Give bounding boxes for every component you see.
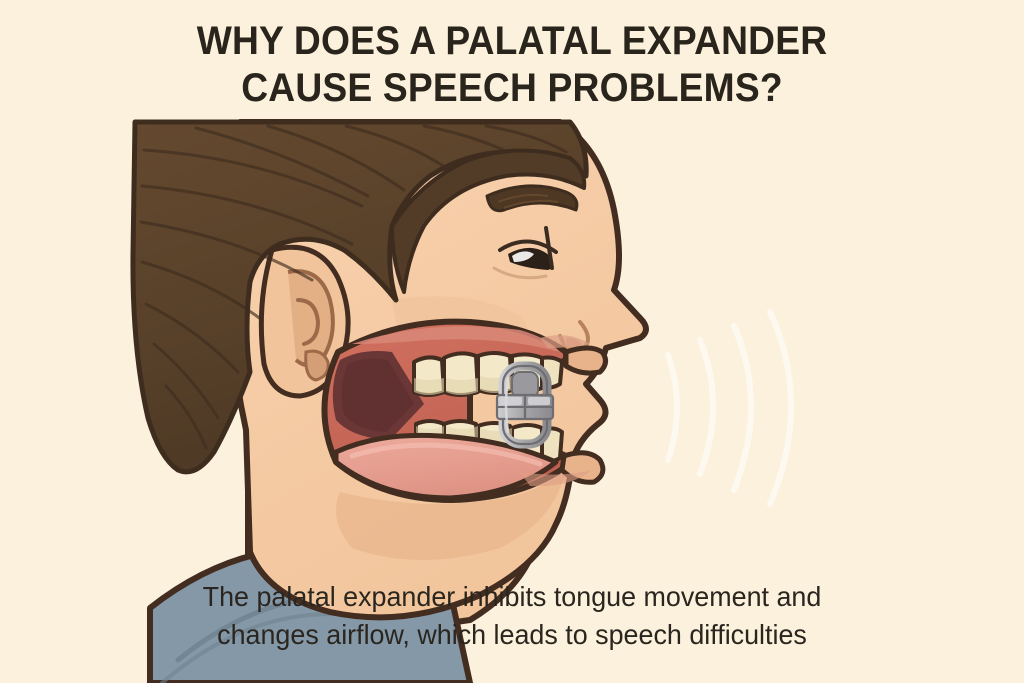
sound-waves xyxy=(668,312,791,504)
page-title: WHY DOES A PALATAL EXPANDER CAUSE SPEECH… xyxy=(0,18,1024,112)
infographic-page: WHY DOES A PALATAL EXPANDER CAUSE SPEECH… xyxy=(0,0,1024,683)
caption: The palatal expander inhibits tongue mov… xyxy=(0,578,1024,654)
title-line-2: CAUSE SPEECH PROBLEMS? xyxy=(36,65,988,112)
title-line-1: WHY DOES A PALATAL EXPANDER xyxy=(36,18,988,65)
upper-lip xyxy=(566,348,606,373)
caption-line-1: The palatal expander inhibits tongue mov… xyxy=(20,578,1003,616)
caption-line-2: changes airflow, which leads to speech d… xyxy=(20,616,1003,654)
